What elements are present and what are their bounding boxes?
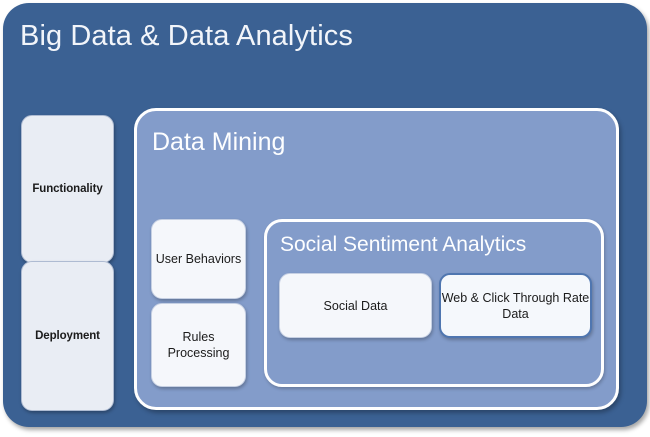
social-sentiment-analytics-container[interactable]: Social Sentiment Analytics Social Data W… — [264, 219, 604, 387]
card-social-data[interactable]: Social Data — [279, 273, 432, 338]
card-web-click-through-rate-data-label: Web & Click Through Rate Data — [441, 290, 590, 322]
card-rules-processing[interactable]: Rules Processing — [151, 303, 246, 387]
data-mining-container[interactable]: Data Mining User Behaviors Rules Process… — [134, 108, 619, 410]
diagram-canvas: Big Data & Data Analytics Functionality … — [0, 0, 650, 437]
big-data-analytics-frame: Big Data & Data Analytics Functionality … — [3, 3, 647, 427]
card-user-behaviors[interactable]: User Behaviors — [151, 219, 246, 299]
card-rules-processing-label: Rules Processing — [152, 329, 245, 361]
side-card-functionality-label: Functionality — [32, 183, 102, 195]
card-user-behaviors-label: User Behaviors — [156, 251, 241, 267]
card-web-click-through-rate-data[interactable]: Web & Click Through Rate Data — [439, 273, 592, 338]
side-card-deployment-label: Deployment — [35, 330, 100, 342]
data-mining-label: Data Mining — [152, 128, 285, 157]
card-social-data-label: Social Data — [324, 298, 388, 314]
side-card-deployment[interactable]: Deployment — [21, 261, 114, 411]
social-sentiment-analytics-label: Social Sentiment Analytics — [280, 232, 526, 257]
page-title: Big Data & Data Analytics — [20, 19, 353, 53]
side-card-functionality[interactable]: Functionality — [21, 115, 114, 263]
